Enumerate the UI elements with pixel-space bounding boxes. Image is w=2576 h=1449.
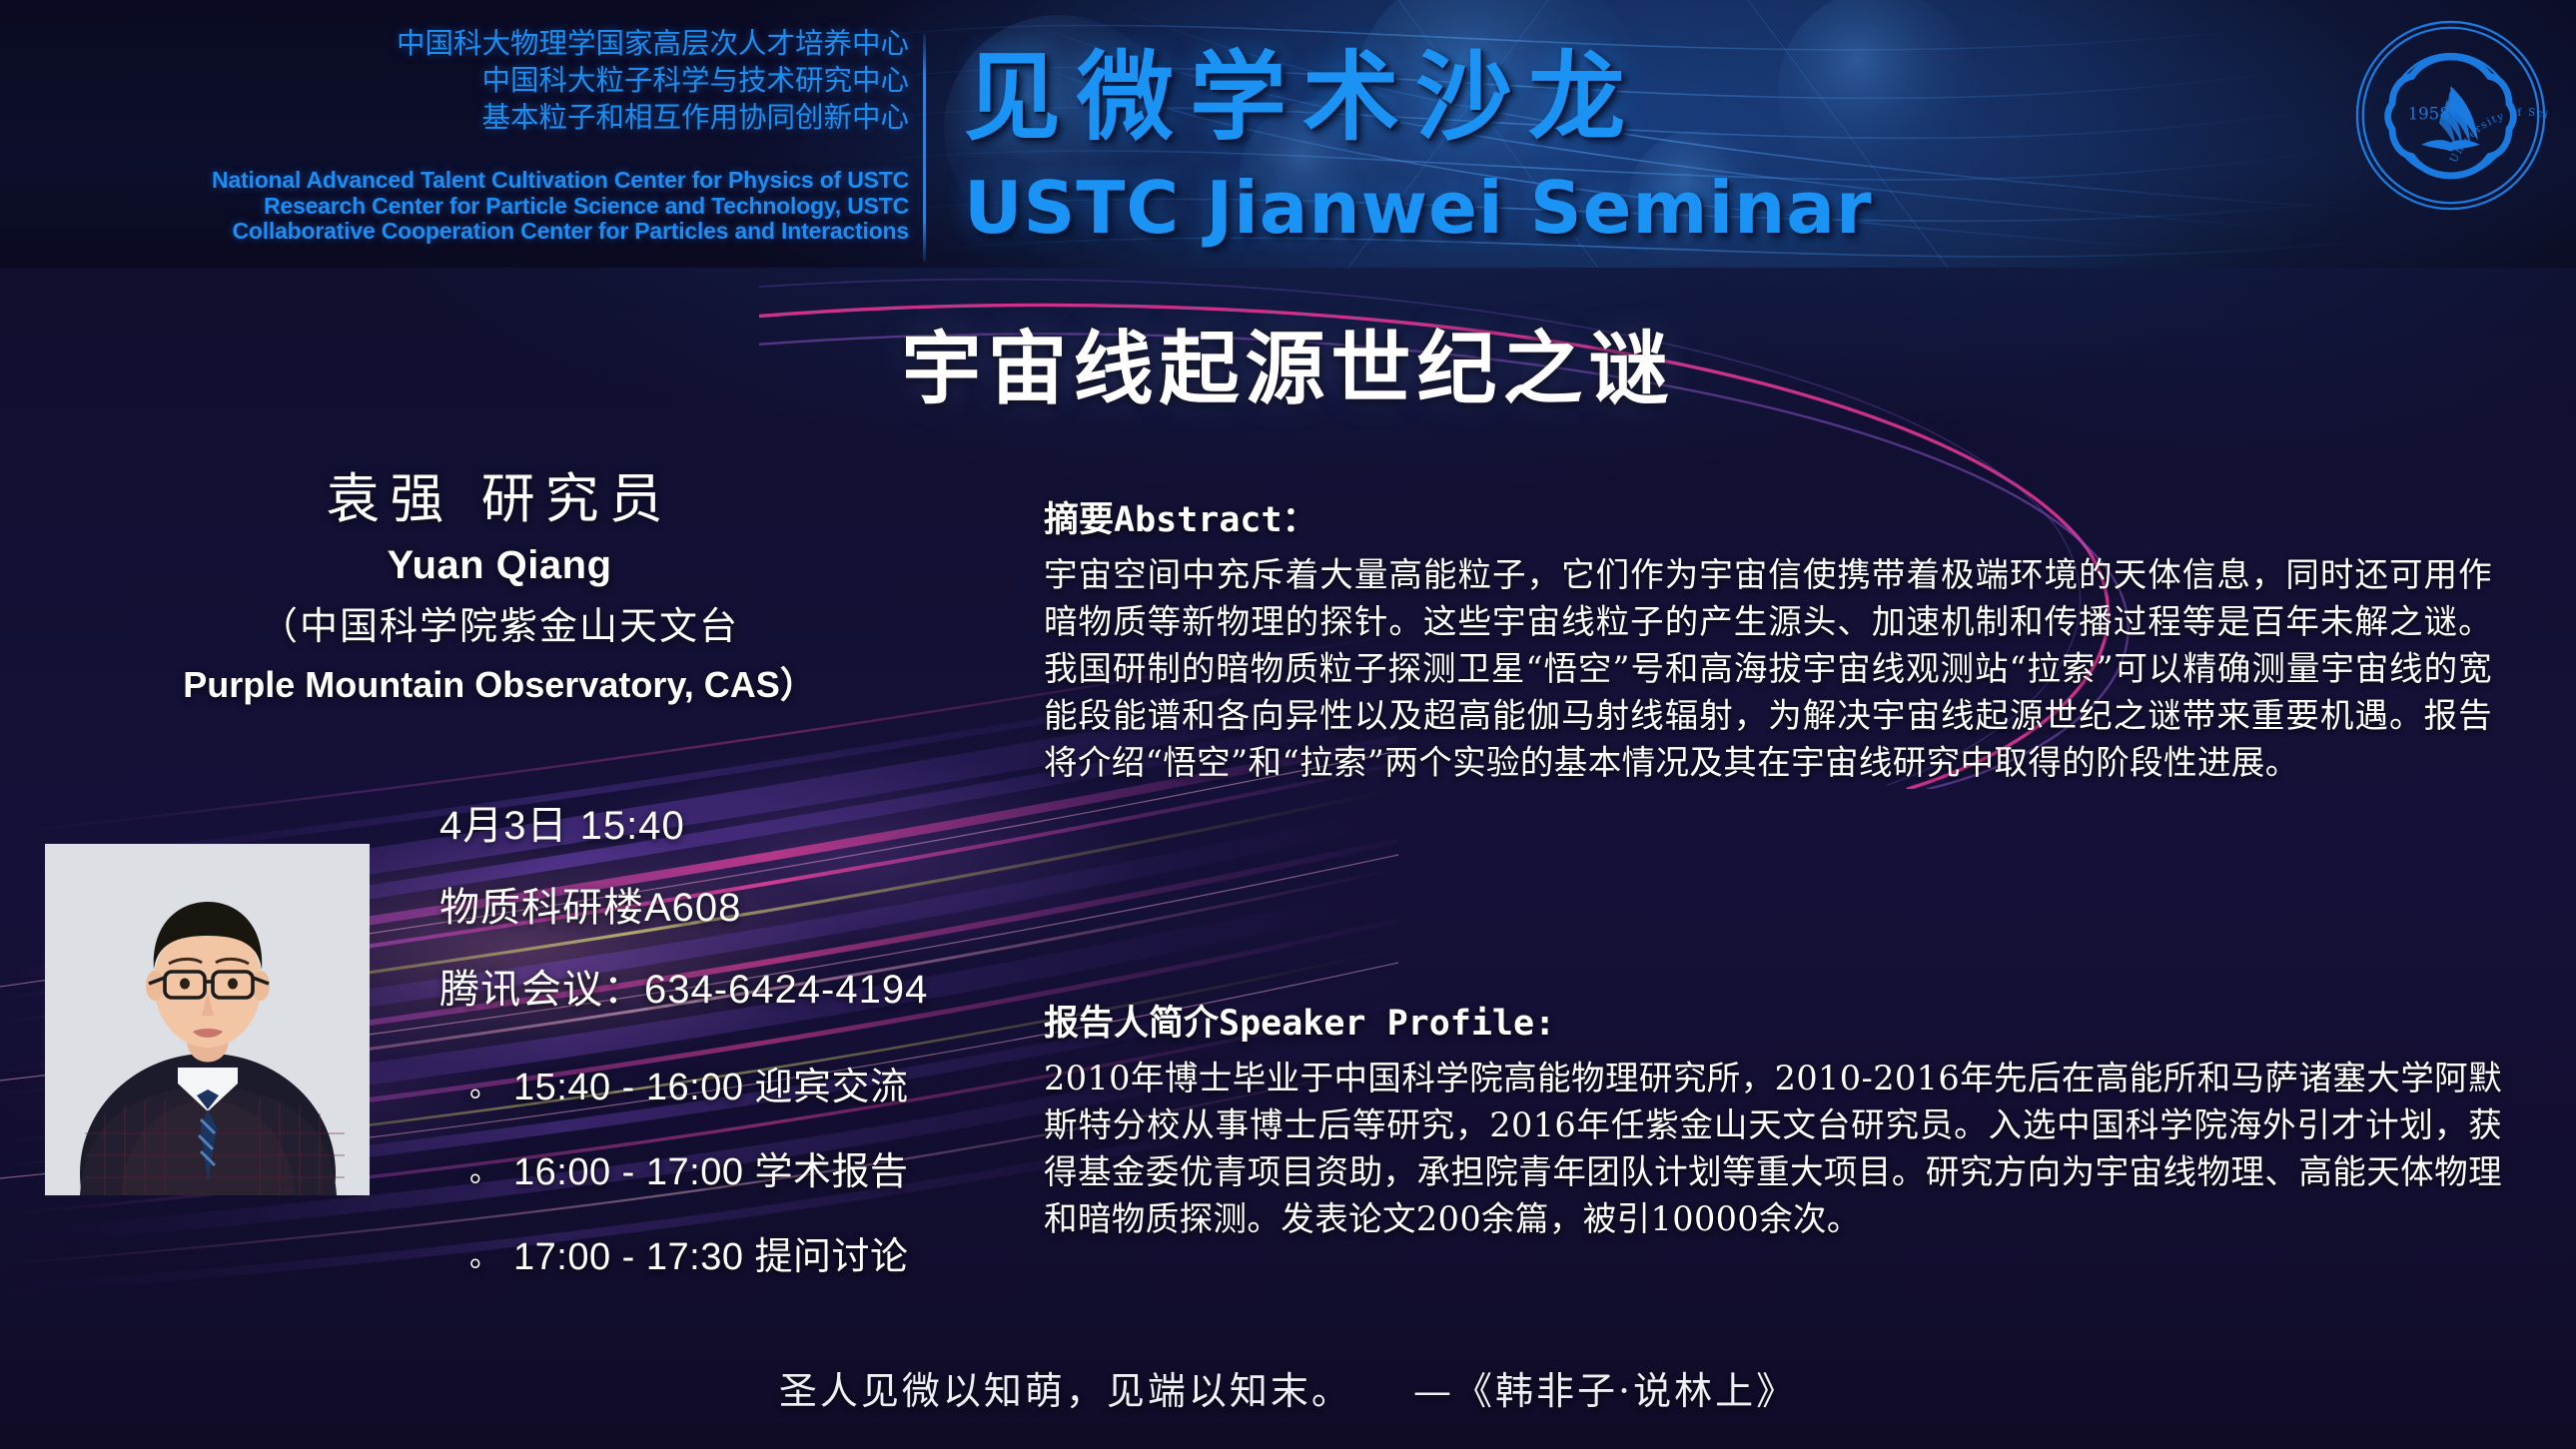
page-title: 宇宙线起源世纪之谜 [0, 305, 2576, 420]
seminar-brand-chinese: 见微学术沙龙 [964, 18, 1641, 159]
speaker-affiliation-english: Purple Mountain Observatory, CAS） [60, 656, 939, 714]
profile-body: 2010年博士毕业于中国科学院高能物理研究所，2010-2016年先后在高能所和… [1044, 1055, 2502, 1242]
agenda-item-label: 15:40 - 16:00 迎宾交流 [513, 1067, 909, 1108]
abstract-body: 宇宙空间中充斥着大量高能粒子，它们作为宇宙信使携带着极端环境的天体信息，同时还可… [1044, 551, 2492, 786]
event-venue: 物质科研楼A608 [439, 886, 1059, 930]
org-en-line-1: National Advanced Talent Cultivation Cen… [90, 168, 909, 194]
event-meeting-id: 腾讯会议：634-6424-4194 [439, 968, 1059, 1012]
agenda-item: 。 17:00 - 17:30 提问讨论 [469, 1236, 1109, 1278]
event-details: 4月3日 15:40 物质科研楼A608 腾讯会议：634-6424-4194 [439, 804, 1059, 1050]
speaker-profile-section: 报告人简介Speaker Profile: 2010年博士毕业于中国科学院高能物… [1044, 1001, 2502, 1242]
abstract-heading: 摘要Abstract： [1044, 497, 2492, 543]
ustc-logo: 1958 University of Science and Technolog… [2353, 18, 2548, 213]
agenda-bullet-icon: 。 [469, 1151, 513, 1193]
agenda-item-label: 17:00 - 17:30 提问讨论 [513, 1236, 909, 1278]
speaker-block: 袁强 研究员 Yuan Qiang （中国科学院紫金山天文台 Purple Mo… [60, 464, 939, 714]
agenda-item: 。 16:00 - 17:00 学术报告 [469, 1151, 1109, 1193]
logo-year: 1958 [2408, 104, 2450, 123]
poster-canvas: 中国科大物理学国家高层次人才培养中心 中国科大粒子科学与技术研究中心 基本粒子和… [0, 0, 2576, 1449]
abstract-section: 摘要Abstract： 宇宙空间中充斥着大量高能粒子，它们作为宇宙信使携带着极端… [1044, 497, 2492, 786]
org-en-line-3: Collaborative Cooperation Center for Par… [90, 219, 909, 245]
org-cn-line-1: 中国科大物理学国家高层次人才培养中心 [90, 26, 909, 63]
agenda-list: 。 15:40 - 16:00 迎宾交流 。 16:00 - 17:00 学术报… [469, 1067, 1109, 1321]
event-datetime: 4月3日 15:40 [439, 804, 1059, 848]
agenda-item-label: 16:00 - 17:00 学术报告 [513, 1151, 909, 1193]
speaker-name-english: Yuan Qiang [60, 534, 939, 596]
org-cn-line-2: 中国科大粒子科学与技术研究中心 [90, 63, 909, 100]
speaker-affiliation-chinese: （中国科学院紫金山天文台 [60, 596, 939, 656]
footer-quote-source: —《韩非子·说林上》 [1413, 1369, 1797, 1413]
org-en-line-2: Research Center for Particle Science and… [90, 194, 909, 220]
seminar-brand-english: USTC Jianwei Seminar [964, 166, 1873, 250]
agenda-bullet-icon: 。 [469, 1067, 513, 1108]
agenda-item: 。 15:40 - 16:00 迎宾交流 [469, 1067, 1109, 1108]
footer-quote-text: 圣人见微以知萌，见端以知末。 [779, 1369, 1352, 1413]
profile-heading: 报告人简介Speaker Profile: [1044, 1001, 2502, 1047]
org-cn-line-3: 基本粒子和相互作用协同创新中心 [90, 100, 909, 137]
speaker-portrait [45, 844, 370, 1195]
org-names-english: National Advanced Talent Cultivation Cen… [90, 168, 909, 245]
agenda-bullet-icon: 。 [469, 1236, 513, 1278]
speaker-name-chinese: 袁强 研究员 [60, 464, 939, 534]
header-divider [923, 34, 926, 262]
org-names-chinese: 中国科大物理学国家高层次人才培养中心 中国科大粒子科学与技术研究中心 基本粒子和… [90, 26, 909, 137]
footer-quote: 圣人见微以知萌，见端以知末。 —《韩非子·说林上》 [0, 1360, 2576, 1415]
